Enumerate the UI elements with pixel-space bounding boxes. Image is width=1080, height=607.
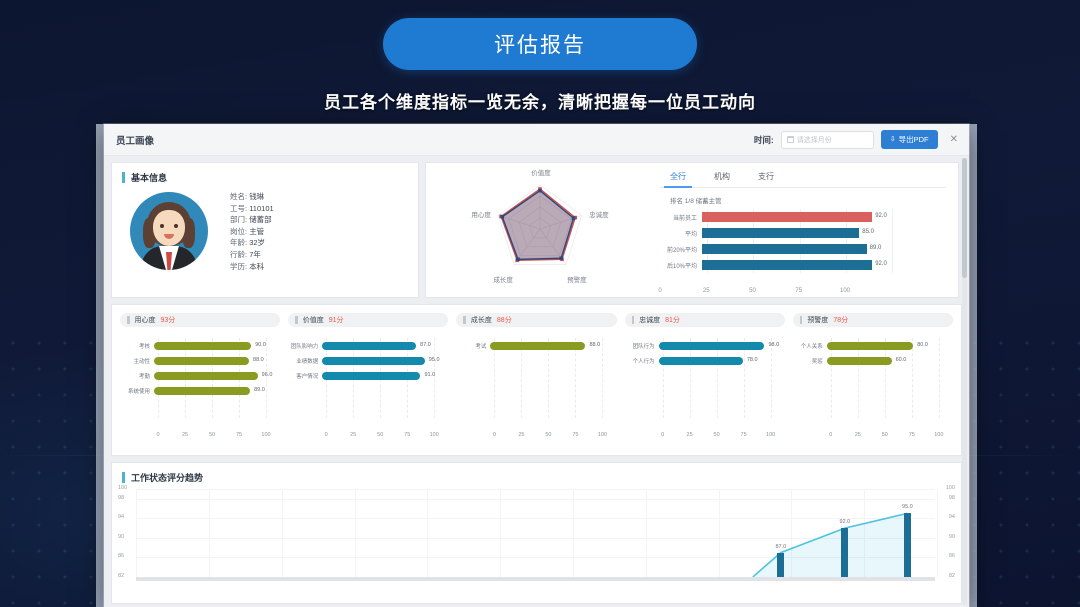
metric-axis-tick: 100 xyxy=(598,432,607,438)
metric-bar-chart: 考核90.0主动性88.0考勤96.0系统使用89.0 xyxy=(120,338,280,430)
metric-pill: 成长度88分 xyxy=(456,313,616,327)
basic-info-value: 主管 xyxy=(249,227,264,236)
close-icon[interactable]: ✕ xyxy=(945,134,963,145)
metric-bar-track: 89.0 xyxy=(154,383,280,398)
metric-card-预警度: 预警度78分个人关系80.0奖惩60.00255075100 xyxy=(789,313,957,455)
section-accent-bar xyxy=(122,472,125,483)
page-title: 评估报告 xyxy=(494,29,586,59)
metric-bar xyxy=(490,342,585,350)
metric-bar-track: 80.0 xyxy=(827,338,953,353)
basic-info-row: 学历: 本科 xyxy=(230,261,274,273)
rank-bar-row: 后10%平均92.0 xyxy=(660,257,946,273)
metric-bar-value: 91.0 xyxy=(424,372,435,378)
metric-bar-value: 89.0 xyxy=(254,387,265,393)
metric-pill: 价值度91分 xyxy=(288,313,448,327)
export-pdf-label: 导出PDF xyxy=(899,134,929,145)
metric-bar-track: 87.0 xyxy=(322,338,448,353)
metric-pill: 预警度78分 xyxy=(793,313,953,327)
metric-x-axis: 0255075100 xyxy=(288,432,448,442)
trend-baseline xyxy=(136,577,935,581)
metric-bar-value: 60.0 xyxy=(896,357,907,363)
month-picker-placeholder: 请选择月份 xyxy=(797,135,832,145)
metric-bar-row: 系统使用89.0 xyxy=(120,383,280,398)
metric-axis-tick: 50 xyxy=(545,432,551,438)
metric-bar-value: 88.0 xyxy=(253,357,264,363)
basic-info-fields: 姓名: 钱琳工号: 110101部门: 储蓄部岗位: 主管年龄: 32岁行龄: … xyxy=(230,188,274,272)
rank-axis-tick: 25 xyxy=(703,288,710,294)
metric-axis-tick: 100 xyxy=(934,432,943,438)
metric-axis-tick: 25 xyxy=(855,432,861,438)
scrollbar-thumb[interactable] xyxy=(962,158,967,278)
metric-bar-row: 个人行为78.0 xyxy=(625,353,785,368)
metric-bar-row: 奖惩60.0 xyxy=(793,353,953,368)
metric-bar-label: 系统使用 xyxy=(120,387,154,395)
pill-accent-bar xyxy=(632,316,635,324)
month-picker-input[interactable]: 请选择月份 xyxy=(781,131,874,149)
download-icon: ⇩ xyxy=(890,136,896,143)
metric-axis-tick: 25 xyxy=(687,432,693,438)
metric-bar-chart: 团队行为98.0个人行为78.0 xyxy=(625,338,785,430)
metric-axis-tick: 0 xyxy=(661,432,664,438)
basic-info-row: 工号: 110101 xyxy=(230,203,274,215)
pill-accent-bar xyxy=(295,316,298,324)
section-accent-bar xyxy=(122,172,125,183)
metric-bar-track: 91.0 xyxy=(322,368,448,383)
radar-and-rank-card: 价值度忠诚度预警度成长度用心度 全行机构支行 排名 1/8 储蓄主管 当前员工9… xyxy=(425,162,959,298)
metric-axis-tick: 75 xyxy=(909,432,915,438)
trend-header: 工作状态评分趋势 xyxy=(112,463,961,484)
metric-axis-tick: 25 xyxy=(518,432,524,438)
metric-axis-tick: 100 xyxy=(261,432,270,438)
basic-info-label: 行龄: xyxy=(230,250,247,259)
metric-axis-tick: 0 xyxy=(829,432,832,438)
metric-bar xyxy=(322,342,416,350)
metric-bar-label: 考核 xyxy=(120,342,154,350)
rank-bar-label: 后10%平均 xyxy=(660,261,702,270)
metrics-row: 用心度93分考核90.0主动性88.0考勤96.0系统使用89.00255075… xyxy=(111,304,962,456)
page-title-pill: 评估报告 xyxy=(383,18,697,70)
metric-bar-track: 98.0 xyxy=(659,338,785,353)
rank-bar-value: 92.0 xyxy=(875,213,887,219)
metric-card-用心度: 用心度93分考核90.0主动性88.0考勤96.0系统使用89.00255075… xyxy=(116,313,284,455)
metric-bar xyxy=(154,387,250,395)
metric-score: 88分 xyxy=(497,315,512,325)
metric-bar-track: 60.0 xyxy=(827,353,953,368)
metric-bar-track: 95.0 xyxy=(322,353,448,368)
metric-axis-tick: 50 xyxy=(209,432,215,438)
rank-bar-value: 89.0 xyxy=(870,245,882,251)
rank-bar-chart: 当前员工92.0平均85.0前20%平均89.0后10%平均92.0 xyxy=(660,209,946,287)
metric-bar-track: 88.0 xyxy=(154,353,280,368)
page-subtitle: 员工各个维度指标一览无余，清晰把握每一位员工动向 xyxy=(0,88,1080,113)
rank-bar-row: 当前员工92.0 xyxy=(660,209,946,225)
metric-axis-tick: 0 xyxy=(156,432,159,438)
trend-point-label: 92.0 xyxy=(840,519,851,525)
metric-bar xyxy=(827,342,913,350)
metric-bar-value: 88.0 xyxy=(589,342,600,348)
metric-pill: 用心度93分 xyxy=(120,313,280,327)
rank-bar-track: 85.0 xyxy=(702,225,946,241)
rank-bar-track: 92.0 xyxy=(702,257,946,273)
metric-name: 成长度 xyxy=(471,315,492,325)
rank-bar-value: 85.0 xyxy=(862,229,874,235)
metric-card-价值度: 价值度91分团队影响力87.0业绩数据95.0客户情况91.0025507510… xyxy=(284,313,452,455)
metric-axis-tick: 50 xyxy=(714,432,720,438)
metric-bar xyxy=(322,372,420,380)
metric-bar xyxy=(659,357,743,365)
rank-axis-tick: 50 xyxy=(749,288,756,294)
basic-info-row: 部门: 储蓄部 xyxy=(230,214,274,226)
metric-bar-value: 90.0 xyxy=(255,342,266,348)
avatar-eye-right xyxy=(174,224,178,228)
export-pdf-button[interactable]: ⇩ 导出PDF xyxy=(881,130,938,149)
metric-axis-tick: 100 xyxy=(430,432,439,438)
metric-bar xyxy=(322,357,425,365)
calendar-icon xyxy=(787,136,794,143)
basic-info-value: 7年 xyxy=(249,250,261,259)
basic-info-value: 本科 xyxy=(249,262,264,271)
rank-tab-全行[interactable]: 全行 xyxy=(670,171,686,187)
metric-bar-row: 业绩数据95.0 xyxy=(288,353,448,368)
time-filter-label: 时间: xyxy=(754,134,774,146)
metric-bar-chart: 考试88.0 xyxy=(456,338,616,430)
metric-score: 91分 xyxy=(329,315,344,325)
pill-accent-bar xyxy=(800,316,803,324)
metric-bar-chart: 个人关系80.0奖惩60.0 xyxy=(793,338,953,430)
metric-pill: 忠诚度81分 xyxy=(625,313,785,327)
metric-bar-label: 业绩数据 xyxy=(288,357,322,365)
metric-bar-value: 78.0 xyxy=(747,357,758,363)
basic-info-value: 110101 xyxy=(249,204,273,213)
basic-info-card: 基本信息 姓名: 钱琳工号: 11010 xyxy=(111,162,419,298)
metric-x-axis: 0255075100 xyxy=(456,432,616,442)
pill-accent-bar xyxy=(127,316,130,324)
metric-bar-value: 87.0 xyxy=(420,342,431,348)
metric-bar-label: 个人行为 xyxy=(625,357,659,365)
basic-info-row: 姓名: 钱琳 xyxy=(230,191,274,203)
rank-bar-row: 前20%平均89.0 xyxy=(660,241,946,257)
metric-bar-label: 考勤 xyxy=(120,372,154,380)
rank-bar-track: 92.0 xyxy=(702,209,946,225)
app-body: 基本信息 姓名: 钱琳工号: 11010 xyxy=(104,156,969,607)
basic-info-row: 年龄: 32岁 xyxy=(230,237,274,249)
metric-bar-label: 个人关系 xyxy=(793,342,827,350)
metric-axis-tick: 25 xyxy=(350,432,356,438)
rank-tabs: 全行机构支行 xyxy=(660,171,946,188)
metric-bar-value: 80.0 xyxy=(917,342,928,348)
trend-card: 工作状态评分趋势 8282868690909494989810010087.09… xyxy=(111,462,962,604)
metric-bar-row: 团队行为98.0 xyxy=(625,338,785,353)
basic-info-row: 行龄: 7年 xyxy=(230,249,274,261)
rank-bar xyxy=(702,260,872,270)
rank-subtitle: 排名 1/8 储蓄主管 xyxy=(660,188,946,209)
metric-bar-label: 主动性 xyxy=(120,357,154,365)
metric-axis-tick: 75 xyxy=(741,432,747,438)
rank-bar xyxy=(702,228,859,238)
metric-bar-label: 奖惩 xyxy=(793,357,827,365)
metric-axis-tick: 75 xyxy=(404,432,410,438)
metric-axis-tick: 50 xyxy=(377,432,383,438)
metric-axis-tick: 75 xyxy=(572,432,578,438)
rank-bar-label: 当前员工 xyxy=(660,213,702,222)
metric-bar-track: 96.0 xyxy=(154,368,280,383)
metric-score: 78分 xyxy=(833,315,848,325)
rank-bar xyxy=(702,212,872,222)
metric-bar xyxy=(154,342,251,350)
rank-bar xyxy=(702,244,867,254)
metric-bar-value: 98.0 xyxy=(768,342,779,348)
trend-heading: 工作状态评分趋势 xyxy=(131,471,203,484)
metric-bar-value: 96.0 xyxy=(262,372,273,378)
rank-panel: 全行机构支行 排名 1/8 储蓄主管 当前员工92.0平均85.0前20%平均8… xyxy=(654,163,958,297)
metric-axis-tick: 25 xyxy=(182,432,188,438)
radar-axis-label: 价值度 xyxy=(530,167,552,177)
radar-axis-label: 成长度 xyxy=(492,274,514,284)
metric-x-axis: 0255075100 xyxy=(120,432,280,442)
metric-bar xyxy=(154,372,258,380)
metric-bar-track: 90.0 xyxy=(154,338,280,353)
metric-axis-tick: 50 xyxy=(882,432,888,438)
basic-info-header: 基本信息 xyxy=(112,163,418,184)
rank-tab-机构[interactable]: 机构 xyxy=(714,171,730,187)
metric-bar-track: 78.0 xyxy=(659,353,785,368)
metric-bar-label: 考试 xyxy=(456,342,490,350)
metric-bar xyxy=(659,342,765,350)
rank-bar-value: 92.0 xyxy=(875,261,887,267)
window-right-shadow xyxy=(969,124,977,607)
metric-card-成长度: 成长度88分考试88.00255075100 xyxy=(452,313,620,455)
trend-area-svg xyxy=(112,489,962,577)
basic-info-value: 储蓄部 xyxy=(249,215,272,224)
basic-info-label: 岗位: xyxy=(230,227,247,236)
metric-bar-row: 团队影响力87.0 xyxy=(288,338,448,353)
rank-axis-tick: 75 xyxy=(795,288,802,294)
radar-axis-label: 用心度 xyxy=(470,209,492,219)
metric-axis-tick: 0 xyxy=(325,432,328,438)
metric-name: 预警度 xyxy=(807,315,828,325)
rank-bar-track: 89.0 xyxy=(702,241,946,257)
metric-bar-row: 个人关系80.0 xyxy=(793,338,953,353)
metric-bar-track: 88.0 xyxy=(490,338,616,353)
window-left-shadow xyxy=(96,124,104,607)
basic-info-label: 部门: xyxy=(230,215,247,224)
metric-name: 价值度 xyxy=(303,315,324,325)
metric-bar xyxy=(827,357,892,365)
metric-name: 用心度 xyxy=(135,315,156,325)
metric-x-axis: 0255075100 xyxy=(793,432,953,442)
basic-info-label: 姓名: xyxy=(230,192,247,201)
radar-axis-label: 预警度 xyxy=(566,274,588,284)
basic-info-label: 工号: xyxy=(230,204,247,213)
rank-axis-tick: 0 xyxy=(658,288,661,294)
metric-axis-tick: 75 xyxy=(236,432,242,438)
metric-bar-label: 团队影响力 xyxy=(288,342,322,350)
metric-bar-row: 考核90.0 xyxy=(120,338,280,353)
vertical-scrollbar[interactable] xyxy=(962,158,967,605)
metric-bar-row: 考试88.0 xyxy=(456,338,616,353)
metric-bar-value: 95.0 xyxy=(429,357,440,363)
metric-axis-tick: 100 xyxy=(766,432,775,438)
metric-score: 93分 xyxy=(161,315,176,325)
basic-info-row: 岗位: 主管 xyxy=(230,226,274,238)
avatar xyxy=(130,192,208,270)
basic-info-label: 年龄: xyxy=(230,238,247,247)
trend-bar xyxy=(841,528,848,577)
rank-axis-tick: 100 xyxy=(840,288,850,294)
radar-axis-label: 忠诚度 xyxy=(588,209,610,219)
metric-axis-tick: 0 xyxy=(493,432,496,438)
metric-bar xyxy=(154,357,249,365)
radar-chart-svg xyxy=(426,163,654,299)
avatar-eye-left xyxy=(160,224,164,228)
rank-bar-row: 平均85.0 xyxy=(660,225,946,241)
rank-tab-支行[interactable]: 支行 xyxy=(758,171,774,187)
app-header: 员工画像 时间: 请选择月份 ⇩ 导出PDF ✕ xyxy=(104,124,969,156)
metric-bar-row: 主动性88.0 xyxy=(120,353,280,368)
metric-name: 忠诚度 xyxy=(639,315,660,325)
trend-bar xyxy=(904,513,911,577)
trend-point-label: 95.0 xyxy=(902,504,913,510)
basic-info-heading: 基本信息 xyxy=(131,171,167,184)
rank-bar-label: 前20%平均 xyxy=(660,245,702,254)
metric-bar-row: 考勤96.0 xyxy=(120,368,280,383)
metric-x-axis: 0255075100 xyxy=(625,432,785,442)
metric-bar-chart: 团队影响力87.0业绩数据95.0客户情况91.0 xyxy=(288,338,448,430)
basic-info-label: 学历: xyxy=(230,262,247,271)
avatar-face xyxy=(153,210,185,246)
metric-bar-label: 团队行为 xyxy=(625,342,659,350)
metric-score: 81分 xyxy=(665,315,680,325)
basic-info-value: 钱琳 xyxy=(249,192,264,201)
rank-bar-label: 平均 xyxy=(660,229,702,238)
metric-bar-row: 客户情况91.0 xyxy=(288,368,448,383)
trend-point-label: 87.0 xyxy=(775,544,786,550)
trend-chart: 8282868690909494989810010087.092.095.0 xyxy=(112,489,961,604)
radar-chart: 价值度忠诚度预警度成长度用心度 xyxy=(426,163,654,299)
metric-card-忠诚度: 忠诚度81分团队行为98.0个人行为78.00255075100 xyxy=(621,313,789,455)
basic-info-value: 32岁 xyxy=(249,238,265,247)
app-window: 员工画像 时间: 请选择月份 ⇩ 导出PDF ✕ 基本信息 xyxy=(104,124,969,607)
metric-bar-label: 客户情况 xyxy=(288,372,322,380)
trend-bar xyxy=(777,553,784,577)
app-window-title: 员工画像 xyxy=(116,133,154,147)
pill-accent-bar xyxy=(463,316,466,324)
